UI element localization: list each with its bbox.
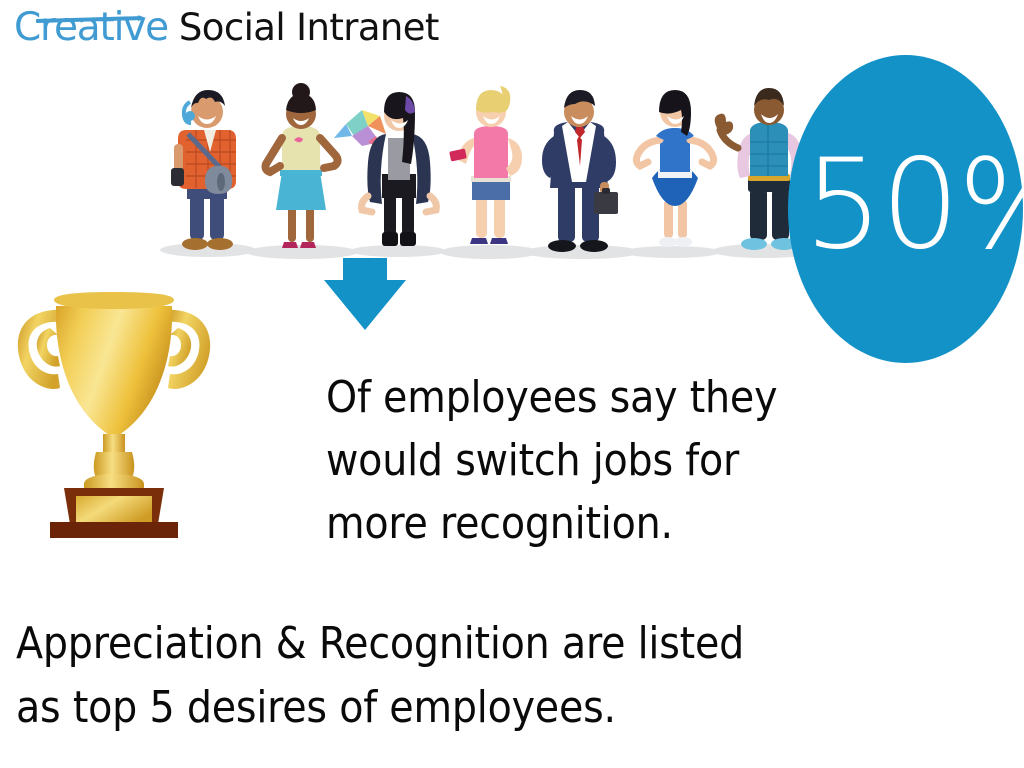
percent-value: 50% (804, 143, 1024, 267)
trophy-cup (54, 292, 174, 438)
gold-trophy-icon (6, 288, 236, 543)
footer-statement: Appreciation & Recognition are listed as… (16, 612, 1016, 740)
footer-line: as top 5 desires of employees. (16, 676, 1016, 740)
people-group-svg (150, 78, 870, 260)
figure-businessman-with-briefcase (542, 90, 618, 252)
people-group-illustration (150, 78, 870, 260)
trophy-handle-right (166, 310, 210, 389)
statement-line: would switch jobs for (326, 429, 926, 492)
trophy-base (50, 488, 178, 538)
figure-blonde-with-phone (449, 86, 522, 244)
trophy-svg (6, 288, 236, 543)
figure-man-with-headphones (171, 90, 236, 250)
figure-woman-in-blue-dress (636, 90, 713, 247)
trophy-stem (84, 434, 144, 490)
trophy-handle-left (18, 310, 62, 389)
statement-line: Of employees say they (326, 366, 926, 429)
percent-bubble: 50% (788, 55, 1024, 363)
brand-suffix: Social Intranet (179, 9, 439, 46)
brand-word: Creative (14, 5, 168, 50)
footer-line: Appreciation & Recognition are listed (16, 612, 1016, 676)
brand-mark: Creative (14, 8, 168, 47)
statement-line: more recognition. (326, 492, 926, 555)
main-statement: Of employees say they would switch jobs … (326, 366, 926, 555)
infographic-poster: Creative Social Intranet (0, 0, 1024, 768)
brand-logo: Creative Social Intranet (14, 8, 439, 56)
